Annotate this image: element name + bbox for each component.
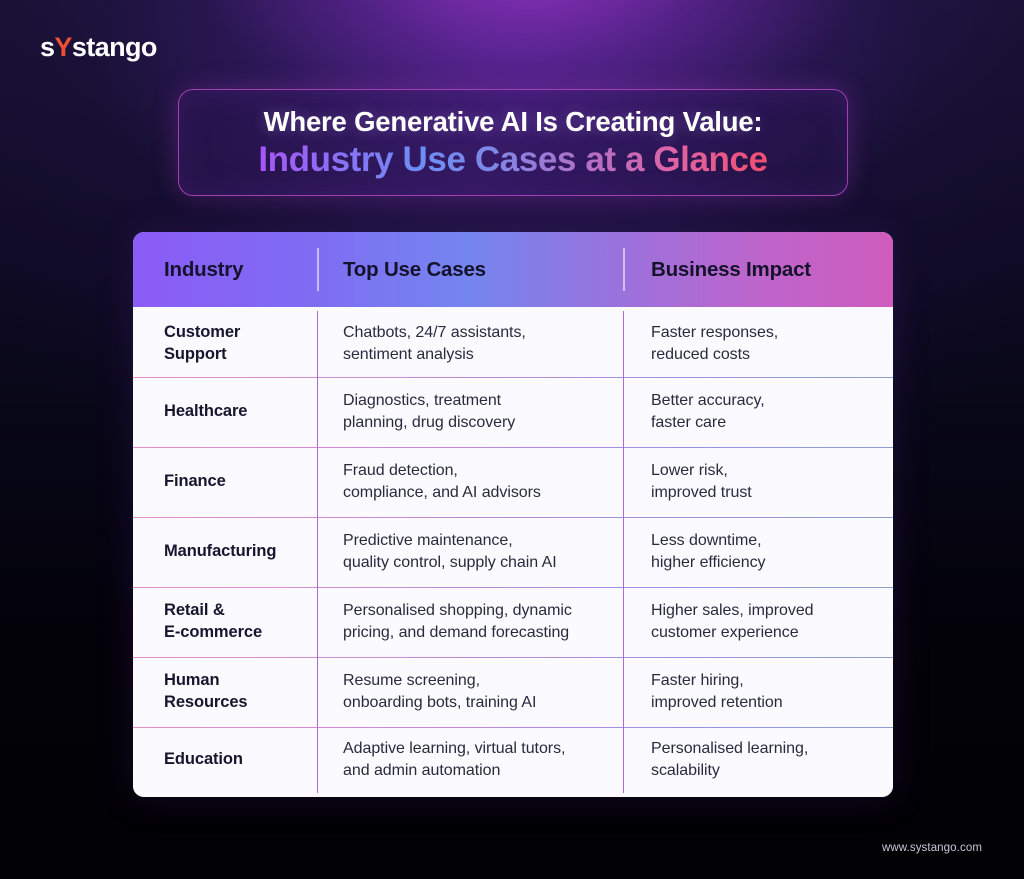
cell-use-cases-text: Fraud detection,compliance, and AI advis… bbox=[343, 460, 541, 504]
industry-use-case-table: Industry Top Use Cases Business Impact C… bbox=[133, 232, 893, 797]
cell-industry-text: Finance bbox=[164, 471, 226, 493]
table-row: FinanceFraud detection,compliance, and A… bbox=[133, 447, 893, 517]
infographic-canvas: sYstango Where Generative AI Is Creating… bbox=[0, 0, 1024, 879]
cell-use-cases-text: Chatbots, 24/7 assistants,sentiment anal… bbox=[343, 322, 526, 366]
cell-industry: Retail &E-commerce bbox=[133, 587, 317, 657]
cell-business-impact: Lower risk,improved trust bbox=[623, 447, 893, 517]
cell-use-cases: Personalised shopping, dynamicpricing, a… bbox=[317, 587, 623, 657]
logo-text-suffix: stango bbox=[72, 32, 157, 62]
column-header-industry: Industry bbox=[133, 232, 317, 307]
cell-business-impact-text: Less downtime,higher efficiency bbox=[651, 530, 765, 574]
title-line-secondary: Industry Use Cases at a Glance bbox=[258, 140, 767, 180]
cell-use-cases-text: Diagnostics, treatmentplanning, drug dis… bbox=[343, 390, 515, 434]
column-header-business-impact: Business Impact bbox=[623, 232, 893, 307]
cell-business-impact: Faster hiring,improved retention bbox=[623, 657, 893, 727]
cell-business-impact-text: Faster hiring,improved retention bbox=[651, 670, 783, 714]
cell-business-impact: Less downtime,higher efficiency bbox=[623, 517, 893, 587]
cell-business-impact: Faster responses,reduced costs bbox=[623, 311, 893, 377]
cell-business-impact: Better accuracy,faster care bbox=[623, 377, 893, 447]
cell-business-impact-text: Higher sales, improvedcustomer experienc… bbox=[651, 600, 814, 644]
cell-use-cases: Diagnostics, treatmentplanning, drug dis… bbox=[317, 377, 623, 447]
logo-accent-letter: Y bbox=[54, 32, 71, 62]
column-header-use-cases: Top Use Cases bbox=[317, 232, 623, 307]
cell-industry-text: HumanResources bbox=[164, 670, 247, 714]
cell-business-impact: Personalised learning,scalability bbox=[623, 727, 893, 793]
cell-industry-text: Healthcare bbox=[164, 401, 247, 423]
table-body: CustomerSupportChatbots, 24/7 assistants… bbox=[133, 307, 893, 797]
cell-industry-text: Education bbox=[164, 749, 243, 771]
table-row: HumanResourcesResume screening,onboardin… bbox=[133, 657, 893, 727]
cell-use-cases-text: Predictive maintenance,quality control, … bbox=[343, 530, 557, 574]
cell-use-cases: Predictive maintenance,quality control, … bbox=[317, 517, 623, 587]
systango-logo: sYstango bbox=[40, 34, 157, 61]
cell-business-impact-text: Personalised learning,scalability bbox=[651, 738, 808, 782]
cell-industry: Education bbox=[133, 727, 317, 793]
table-header-row: Industry Top Use Cases Business Impact bbox=[133, 232, 893, 307]
cell-industry: Healthcare bbox=[133, 377, 317, 447]
table-row: ManufacturingPredictive maintenance,qual… bbox=[133, 517, 893, 587]
cell-industry-text: CustomerSupport bbox=[164, 322, 240, 366]
cell-business-impact-text: Better accuracy,faster care bbox=[651, 390, 765, 434]
cell-use-cases-text: Adaptive learning, virtual tutors,and ad… bbox=[343, 738, 565, 782]
cell-industry-text: Manufacturing bbox=[164, 541, 276, 563]
cell-industry: Finance bbox=[133, 447, 317, 517]
cell-use-cases: Adaptive learning, virtual tutors,and ad… bbox=[317, 727, 623, 793]
cell-industry-text: Retail &E-commerce bbox=[164, 600, 262, 644]
table-row: HealthcareDiagnostics, treatmentplanning… bbox=[133, 377, 893, 447]
cell-use-cases: Resume screening,onboarding bots, traini… bbox=[317, 657, 623, 727]
cell-industry: CustomerSupport bbox=[133, 311, 317, 377]
cell-use-cases: Chatbots, 24/7 assistants,sentiment anal… bbox=[317, 311, 623, 377]
cell-business-impact-text: Faster responses,reduced costs bbox=[651, 322, 778, 366]
footer-website-url: www.systango.com bbox=[882, 842, 982, 854]
table-row: EducationAdaptive learning, virtual tuto… bbox=[133, 727, 893, 797]
table-row: Retail &E-commercePersonalised shopping,… bbox=[133, 587, 893, 657]
cell-business-impact: Higher sales, improvedcustomer experienc… bbox=[623, 587, 893, 657]
cell-business-impact-text: Lower risk,improved trust bbox=[651, 460, 752, 504]
cell-use-cases: Fraud detection,compliance, and AI advis… bbox=[317, 447, 623, 517]
table-row: CustomerSupportChatbots, 24/7 assistants… bbox=[133, 307, 893, 377]
cell-use-cases-text: Personalised shopping, dynamicpricing, a… bbox=[343, 600, 572, 644]
title-card: Where Generative AI Is Creating Value: I… bbox=[178, 89, 848, 196]
cell-use-cases-text: Resume screening,onboarding bots, traini… bbox=[343, 670, 536, 714]
cell-industry: Manufacturing bbox=[133, 517, 317, 587]
title-line-primary: Where Generative AI Is Creating Value: bbox=[264, 106, 763, 138]
logo-text-prefix: s bbox=[40, 32, 54, 62]
cell-industry: HumanResources bbox=[133, 657, 317, 727]
